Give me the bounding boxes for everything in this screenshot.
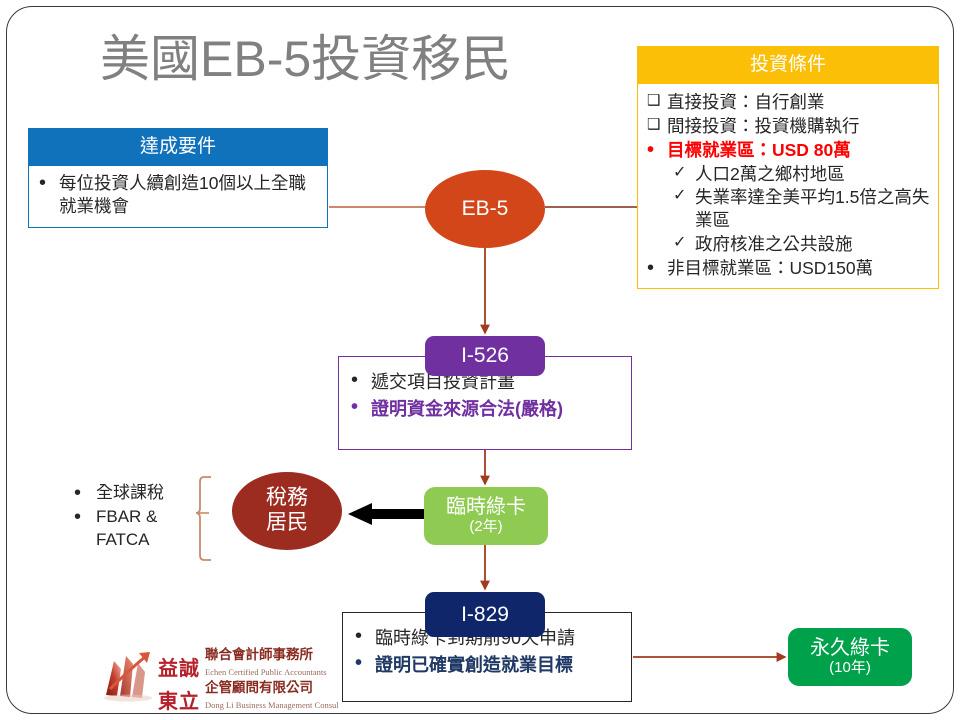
node-temporary-green-card[interactable]: 臨時綠卡 (2年)	[424, 487, 548, 545]
conditions-body: ❑ 直接投資：自行創業 ❑ 間接投資：投資機購執行 • 目標就業區：USD 80…	[637, 84, 939, 289]
list-item-text: 間接投資：投資機購執行	[667, 116, 860, 136]
list-item-text: 全球課稅	[96, 483, 164, 502]
checkbox-square-icon: ❑	[647, 115, 665, 135]
list-item-text: 目標就業區：USD 80萬	[667, 140, 851, 160]
requirements-header: 達成要件	[28, 128, 328, 166]
logo-line-1: 益誠 聯合會計師事務所 Echen Certified Public Accou…	[158, 647, 339, 679]
logo-brand-cjk-2: 東立	[158, 692, 200, 712]
company-logo: 益誠 聯合會計師事務所 Echen Certified Public Accou…	[100, 645, 340, 707]
page-title: 美國EB-5投資移民	[100, 33, 511, 86]
slide-canvas: 美國EB-5投資移民 達成要件 • 每位投資人續創造10個以上全職就業機會 投資…	[0, 0, 960, 720]
node-temporary-green-card-label: 臨時綠卡	[446, 496, 526, 518]
bullet-dot-icon: •	[351, 369, 369, 392]
list-item-text: 證明已確實創造就業目標	[375, 655, 573, 675]
check-icon: ✓	[673, 163, 691, 184]
node-eb5-label: EB-5	[462, 197, 509, 221]
node-permanent-green-card-sub: (10年)	[829, 660, 871, 677]
bullet-dot-icon: •	[39, 172, 57, 195]
check-icon: ✓	[673, 186, 691, 207]
list-item-text: 失業率達全美平均1.5倍之高失業區	[695, 187, 929, 230]
logo-brand-cn-2: 企管顧問有限公司	[205, 680, 313, 695]
requirements-body: • 每位投資人續創造10個以上全職就業機會	[28, 166, 328, 228]
list-item: ❑ 直接投資：自行創業	[645, 91, 931, 114]
logo-brand-en-2: Dong Li Business Management Consul	[205, 700, 339, 710]
list-item-text: 政府核准之公共設施	[695, 234, 853, 254]
list-item: ✓ 政府核准之公共設施	[645, 233, 931, 256]
list-item: • FBAR & FATCA	[70, 506, 195, 552]
conditions-list: ❑ 直接投資：自行創業 ❑ 間接投資：投資機購執行 • 目標就業區：USD 80…	[645, 91, 931, 279]
list-item-text: 每位投資人續創造10個以上全職就業機會	[59, 173, 306, 216]
bullet-dot-icon: •	[74, 506, 92, 529]
checkbox-square-icon: ❑	[647, 91, 665, 111]
node-i829-label: I-829	[461, 603, 509, 627]
node-temporary-green-card-sub: (2年)	[469, 519, 502, 536]
tax-notes-list: • 全球課稅 • FBAR & FATCA	[70, 482, 195, 552]
node-eb5[interactable]: EB-5	[425, 170, 545, 248]
list-item: • 證明資金來源合法(嚴格)	[349, 396, 621, 422]
check-icon: ✓	[673, 233, 691, 254]
node-permanent-green-card[interactable]: 永久綠卡 (10年)	[788, 628, 912, 686]
conditions-header: 投資條件	[637, 46, 939, 84]
node-tax-resident[interactable]: 稅務 居民	[232, 472, 342, 550]
requirements-list: • 每位投資人續創造10個以上全職就業機會	[37, 172, 319, 218]
node-permanent-green-card-label: 永久綠卡	[810, 637, 890, 659]
list-item: ✓ 失業率達全美平均1.5倍之高失業區	[645, 186, 931, 232]
list-item-text: 直接投資：自行創業	[667, 92, 825, 112]
logo-mark-icon	[100, 647, 156, 703]
list-item-text: FBAR & FATCA	[96, 507, 157, 549]
list-item: • 全球課稅	[70, 482, 195, 505]
logo-brand-cjk-1: 益誠	[158, 659, 200, 679]
node-i526-label: I-526	[461, 344, 509, 368]
bullet-dot-icon: •	[647, 257, 665, 280]
list-item-text: 非目標就業區：USD150萬	[667, 258, 873, 278]
logo-line-2: 東立 企管顧問有限公司 Dong Li Business Management …	[158, 680, 339, 712]
list-item-text: 人口2萬之鄉村地區	[695, 164, 845, 184]
bullet-dot-icon: •	[647, 139, 665, 162]
list-item-text: 證明資金來源合法(嚴格)	[371, 399, 563, 419]
list-item: • 目標就業區：USD 80萬	[645, 139, 931, 162]
bullet-dot-icon: •	[355, 625, 373, 648]
list-item: • 非目標就業區：USD150萬	[645, 257, 931, 280]
logo-brand-cn-1: 聯合會計師事務所	[205, 647, 313, 662]
logo-text: 益誠 聯合會計師事務所 Echen Certified Public Accou…	[158, 647, 339, 713]
list-item: ✓ 人口2萬之鄉村地區	[645, 163, 931, 186]
list-item: ❑ 間接投資：投資機購執行	[645, 115, 931, 138]
bullet-dot-icon: •	[351, 396, 369, 419]
bullet-dot-icon: •	[74, 482, 92, 505]
conditions-box: 投資條件 ❑ 直接投資：自行創業 ❑ 間接投資：投資機購執行 • 目標就業區：U…	[637, 46, 939, 289]
list-item: • 每位投資人續創造10個以上全職就業機會	[37, 172, 319, 218]
list-item: • 證明已確實創造就業目標	[353, 652, 621, 678]
requirements-box: 達成要件 • 每位投資人續創造10個以上全職就業機會	[28, 128, 328, 228]
node-tax-resident-line1: 稅務	[266, 486, 308, 511]
node-tax-resident-line2: 居民	[266, 511, 308, 536]
bullet-dot-icon: •	[355, 652, 373, 675]
i526-list: • 遞交項目投資計畫 • 證明資金來源合法(嚴格)	[349, 369, 621, 422]
node-i526[interactable]: I-526	[425, 336, 545, 376]
logo-brand-en-1: Echen Certified Public Accountants	[205, 667, 327, 677]
node-i829[interactable]: I-829	[425, 592, 545, 637]
